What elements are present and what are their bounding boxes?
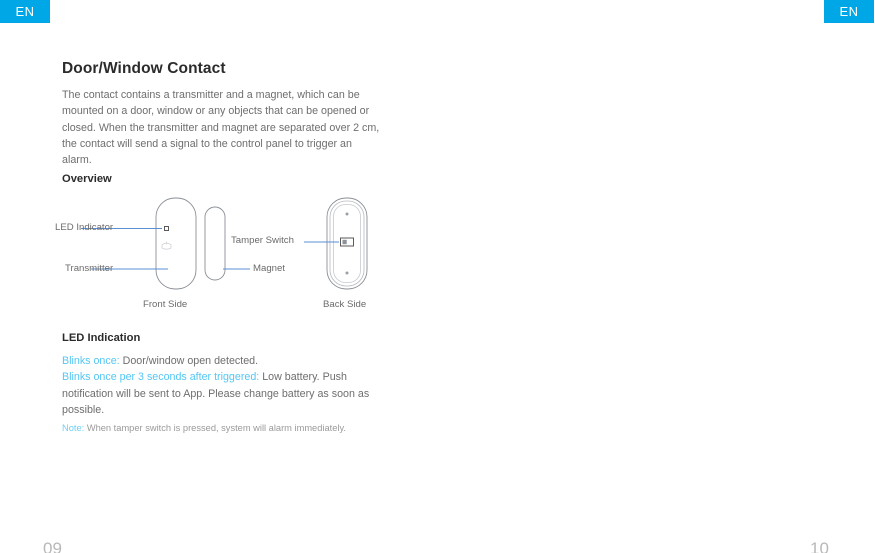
note-line: Note: When tamper switch is pressed, sys… bbox=[62, 421, 392, 435]
led-line-2-accent: Blinks once per 3 seconds after triggere… bbox=[62, 371, 259, 383]
label-magnet: Magnet bbox=[253, 263, 285, 274]
note-accent: Note: bbox=[62, 423, 84, 433]
intro-paragraph: The contact contains a transmitter and a… bbox=[62, 87, 384, 168]
page-number-left: 09 bbox=[43, 539, 62, 553]
right-page: Installation Make sure the contacts work… bbox=[438, 0, 875, 553]
label-led-indicator: LED Indicator bbox=[55, 222, 113, 233]
led-line-1: Blinks once: Door/window open detected. bbox=[62, 353, 387, 369]
led-indication-heading: LED Indication bbox=[62, 332, 140, 344]
page-title-door-window-contact: Door/Window Contact bbox=[62, 60, 226, 78]
caption-front-side: Front Side bbox=[143, 299, 187, 310]
caption-back-side: Back Side bbox=[323, 299, 366, 310]
label-tamper-switch: Tamper Switch bbox=[231, 235, 294, 246]
label-transmitter: Transmitter bbox=[65, 263, 113, 274]
left-page: Door/Window Contact The contact contains… bbox=[0, 0, 437, 553]
led-line-1-accent: Blinks once: bbox=[62, 355, 120, 367]
page-number-right: 10 bbox=[810, 539, 829, 553]
led-indication-body: Blinks once: Door/window open detected. … bbox=[62, 353, 387, 418]
overview-diagram: LED Indicator Transmitter Magnet Tamper … bbox=[55, 193, 390, 318]
led-line-2: Blinks once per 3 seconds after triggere… bbox=[62, 369, 387, 418]
overview-heading: Overview bbox=[62, 173, 112, 185]
manual-page-spread: EN EN Door/Window Contact The contact co… bbox=[0, 0, 875, 553]
note-text: When tamper switch is pressed, system wi… bbox=[84, 423, 346, 433]
led-line-1-text: Door/window open detected. bbox=[120, 355, 258, 367]
